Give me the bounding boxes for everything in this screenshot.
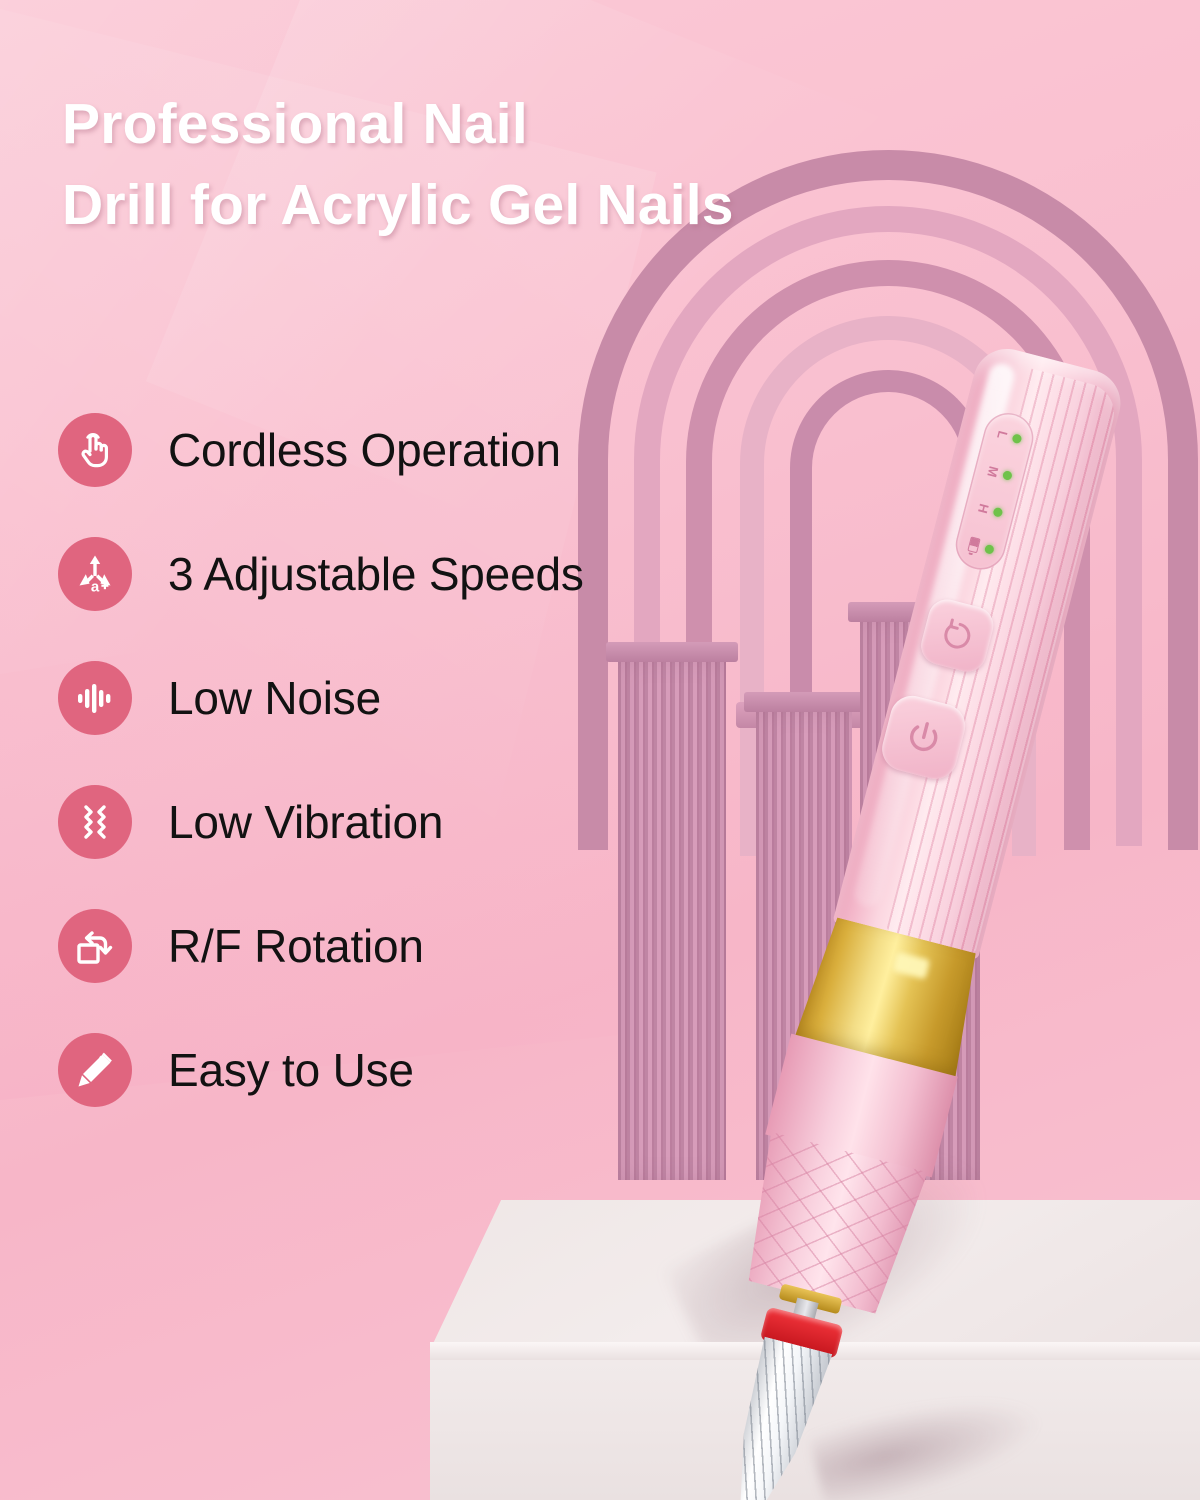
feature-item: Low Vibration bbox=[58, 760, 818, 884]
marketing-banner: Professional Nail Drill for Acrylic Gel … bbox=[0, 0, 1200, 1500]
vibration-zigzag-icon bbox=[58, 785, 132, 859]
tap-hand-icon bbox=[58, 413, 132, 487]
feature-label: R/F Rotation bbox=[168, 919, 424, 973]
feature-item: Easy to Use bbox=[58, 1008, 818, 1132]
headline-line-2: Drill for Acrylic Gel Nails bbox=[62, 165, 962, 246]
feature-label: 3 Adjustable Speeds bbox=[168, 547, 584, 601]
feature-item: Cordless Operation bbox=[58, 388, 818, 512]
led-dot bbox=[1012, 433, 1023, 444]
page-title: Professional Nail Drill for Acrylic Gel … bbox=[62, 84, 962, 246]
feature-list: Cordless Operation a bbox=[58, 388, 818, 1132]
sound-wave-icon bbox=[58, 661, 132, 735]
rotation-arrows-icon bbox=[58, 909, 132, 983]
multi-arrow-speed-icon: a bbox=[58, 537, 132, 611]
feature-item: a 3 Adjustable Speeds bbox=[58, 512, 818, 636]
feature-label: Low Vibration bbox=[168, 795, 443, 849]
feature-label: Easy to Use bbox=[168, 1043, 414, 1097]
feature-label: Low Noise bbox=[168, 671, 381, 725]
battery-icon bbox=[967, 536, 980, 553]
led-dot bbox=[1002, 470, 1013, 481]
led-dot bbox=[984, 543, 995, 554]
speed-label-high: H bbox=[975, 500, 993, 516]
feature-item: Low Noise bbox=[58, 636, 818, 760]
speed-label-low: L bbox=[994, 426, 1012, 442]
feature-item: R/F Rotation bbox=[58, 884, 818, 1008]
pencil-icon bbox=[58, 1033, 132, 1107]
svg-text:a: a bbox=[91, 579, 100, 596]
led-dot bbox=[993, 506, 1004, 517]
headline-line-1: Professional Nail bbox=[62, 92, 528, 156]
feature-label: Cordless Operation bbox=[168, 423, 561, 477]
speed-label-medium: M bbox=[984, 463, 1002, 479]
